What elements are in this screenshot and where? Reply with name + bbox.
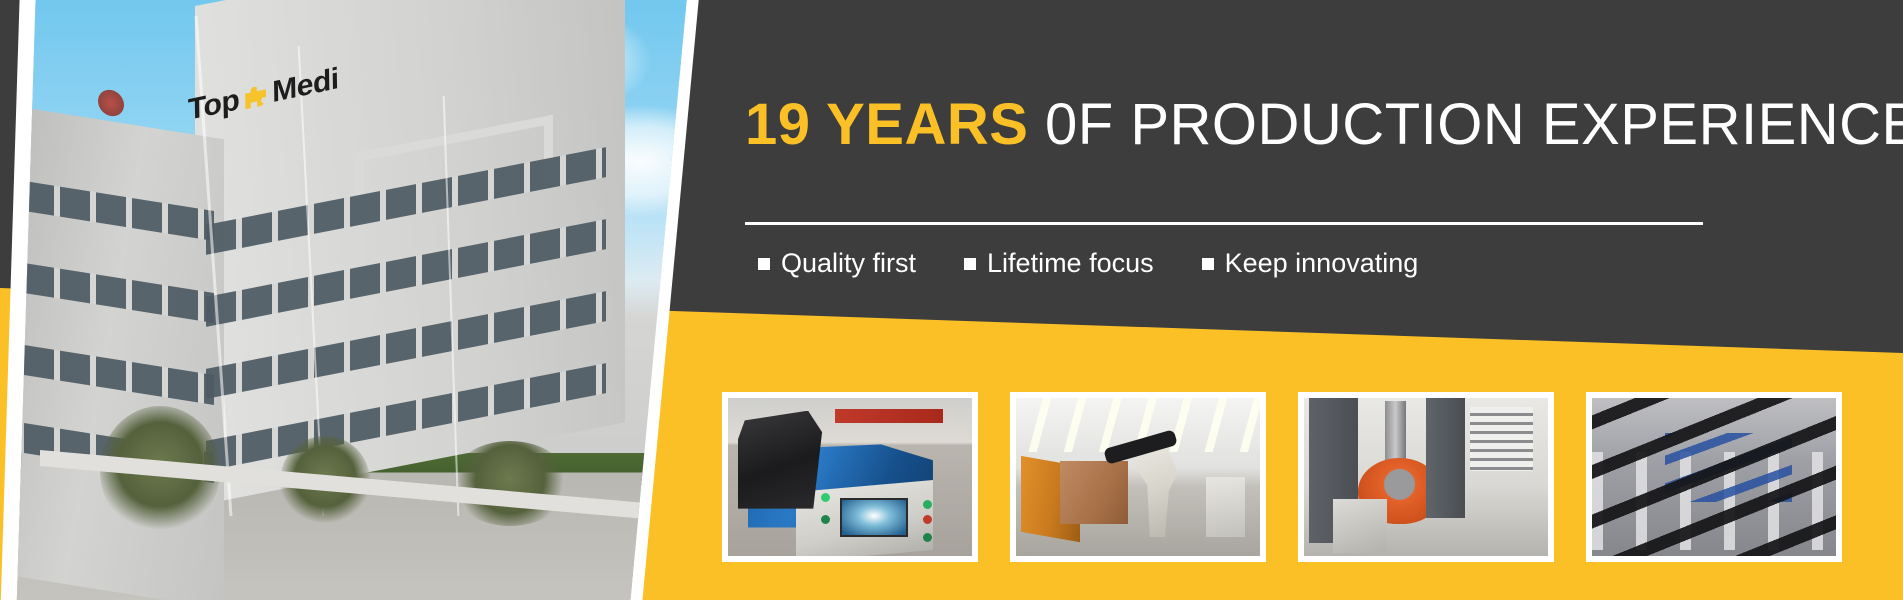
storage-rack <box>1470 407 1533 470</box>
thumbnail-tube-assembly-jigs <box>1586 392 1842 562</box>
building-emblem <box>98 88 124 118</box>
thumbnail-tube-bending-machine <box>1298 392 1554 562</box>
feature-item-keep-innovating: Keep innovating <box>1202 248 1419 279</box>
green-indicator-led <box>821 493 830 502</box>
square-bullet-icon <box>1202 258 1214 270</box>
thumbnail-robotic-welding-cell <box>1010 392 1266 562</box>
factory-thumbnail-strip <box>722 392 1842 562</box>
black-tube-bars <box>1592 398 1836 556</box>
feature-item-quality-first: Quality first <box>758 248 916 279</box>
robotic-welding-cell-in-workshop-photo <box>1016 398 1260 556</box>
machine-control-box <box>1333 499 1387 553</box>
headline-rest: 0F PRODUCTION EXPERIENCE <box>1045 92 1903 157</box>
page-title: 19 YEARS 0F PRODUCTION EXPERIENCE <box>745 96 1903 154</box>
building-photo-frame: Top Medi <box>0 0 700 600</box>
feature-label: Lifetime focus <box>987 248 1154 279</box>
cnc-punching-machine-with-control-panel-photo <box>728 398 972 556</box>
feature-label: Quality first <box>781 248 916 279</box>
square-bullet-icon <box>964 258 976 270</box>
feature-label: Keep innovating <box>1225 248 1419 279</box>
red-factory-banner <box>835 409 942 423</box>
square-bullet-icon <box>758 258 770 270</box>
control-cabinet <box>1206 477 1245 537</box>
thumbnail-cnc-punching-machine <box>722 392 978 562</box>
hydraulic-ram <box>1385 401 1407 464</box>
hmi-touchscreen <box>840 498 907 537</box>
green-indicator-led <box>923 533 932 542</box>
shrub <box>450 441 570 526</box>
headline-years: 19 YEARS <box>745 92 1028 157</box>
metal-tube-assembly-jig-fixtures-photo <box>1592 398 1836 556</box>
tube-bending-machine-with-orange-wheel-photo <box>1304 398 1548 556</box>
factory-office-building-photo: Top Medi <box>0 0 700 600</box>
wooden-partition <box>1060 461 1128 524</box>
headline-divider <box>745 222 1703 225</box>
green-indicator-led <box>923 500 932 509</box>
feature-list: Quality first Lifetime focus Keep innova… <box>758 248 1418 279</box>
feature-item-lifetime-focus: Lifetime focus <box>964 248 1154 279</box>
company-promo-banner: Top Medi 19 YEARS 0F PRODUCTION EXPERIEN… <box>0 0 1903 600</box>
puzzle-piece-icon <box>245 84 266 109</box>
